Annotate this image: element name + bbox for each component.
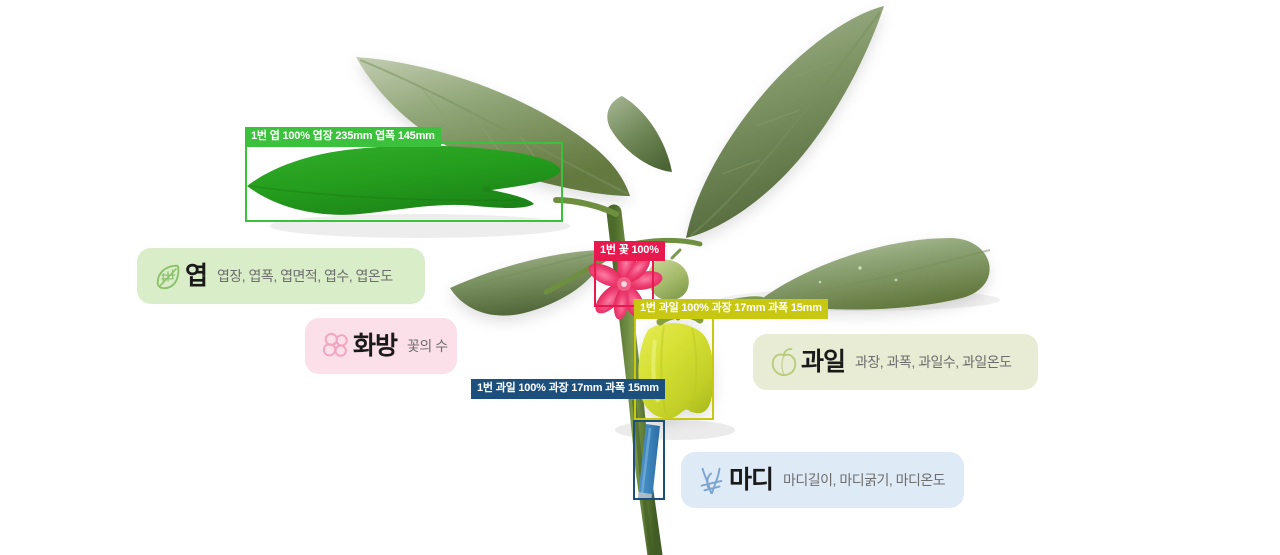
flower-icon	[321, 331, 351, 361]
legend-subtitle-flower: 꽃의 수	[407, 339, 448, 353]
detection-label-node: 1번 과일 100% 과장 17mm 과폭 15mm	[471, 379, 665, 399]
leaf-upper-middle	[607, 96, 672, 172]
legend-title-flower: 화방	[353, 334, 397, 359]
leaf-upper-right	[686, 6, 884, 238]
legend-title-fruit: 과일	[801, 350, 845, 375]
detection-label-flower: 1번 꽃 100%	[594, 241, 665, 261]
legend-subtitle-leaf: 엽장, 엽폭, 엽면적, 엽수, 엽온도	[217, 269, 393, 283]
legend-card-fruit[interactable]: 과일 과장, 과폭, 과일수, 과일온도	[753, 334, 1038, 390]
legend-subtitle-node: 마디길이, 마디굵기, 마디온도	[783, 473, 945, 487]
detection-box-node[interactable]	[633, 420, 665, 500]
detection-box-leaf[interactable]	[245, 142, 563, 222]
detection-label-leaf: 1번 엽 100% 엽장 235mm 엽폭 145mm	[245, 127, 441, 147]
node-icon	[697, 465, 727, 495]
legend-card-node[interactable]: 마디 마디길이, 마디굵기, 마디온도	[681, 452, 964, 508]
detection-label-fruit: 1번 과일 100% 과장 17mm 과폭 15mm	[634, 299, 828, 319]
detection-canvas: 1번 엽 100% 엽장 235mm 엽폭 145mm 1번 꽃 100% 1번…	[0, 0, 1280, 555]
legend-card-flower[interactable]: 화방 꽃의 수	[305, 318, 457, 374]
fruit-icon	[769, 347, 799, 377]
legend-subtitle-fruit: 과장, 과폭, 과일수, 과일온도	[855, 355, 1012, 369]
legend-title-node: 마디	[729, 468, 773, 493]
legend-title-leaf: 엽	[185, 264, 207, 289]
legend-card-leaf[interactable]: 엽 엽장, 엽폭, 엽면적, 엽수, 엽온도	[137, 248, 425, 304]
detection-box-fruit[interactable]	[634, 315, 714, 420]
leaf-mid-left	[450, 250, 606, 316]
leaf-icon	[153, 261, 183, 291]
